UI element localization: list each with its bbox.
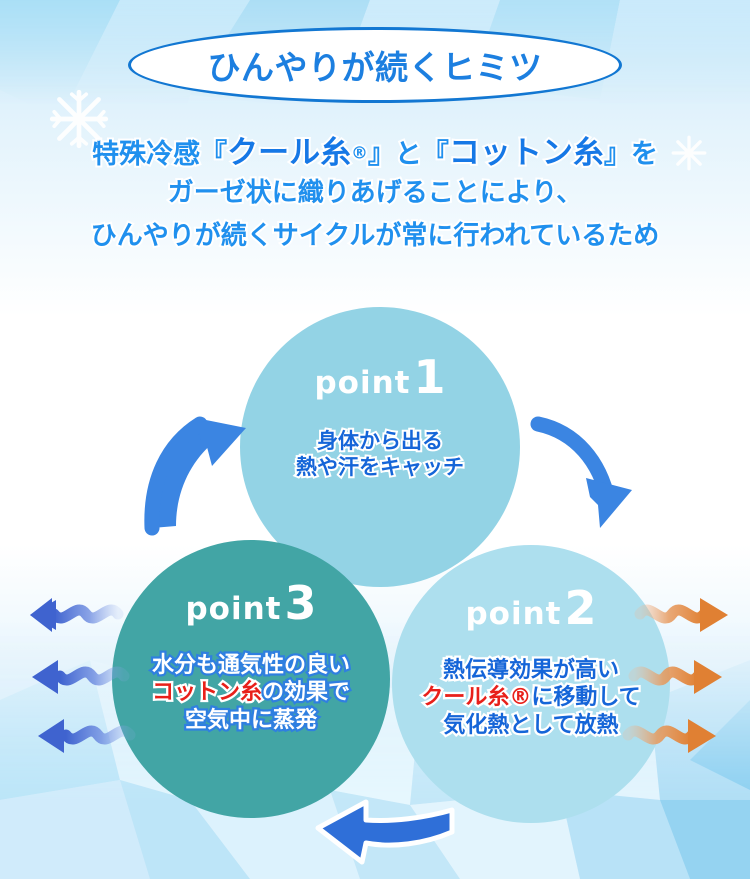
point-3-line-1: 水分も通気性の良い bbox=[152, 652, 350, 679]
point-1-body: 身体から出る 熱や汗をキャッチ bbox=[296, 428, 464, 480]
point-1-line-2: 熱や汗をキャッチ bbox=[296, 454, 464, 480]
point-3-line-2-red: コットン糸 bbox=[152, 680, 262, 705]
registered-mark: ® bbox=[351, 142, 368, 162]
point-2-word: point bbox=[465, 599, 561, 630]
lead-line-2: ガーゼ状に織りあげることにより、 bbox=[0, 176, 750, 210]
page-title: ひんやりが続くヒミツ bbox=[128, 27, 622, 103]
lead-line-3: ひんやりが続くサイクルが常に行われているため bbox=[0, 219, 750, 253]
snowflake-icon bbox=[46, 86, 112, 152]
lead-1-cotton: コットン糸 bbox=[449, 135, 604, 171]
point-3-circle[interactable]: point 3 水分も通気性の良い コットン糸の効果で 空気中に蒸発 bbox=[112, 540, 390, 818]
lead-1-cool: クール糸 bbox=[227, 135, 351, 171]
point-2-line-2-red: クール糸® bbox=[421, 685, 531, 710]
point-2-line-3: 気化熱として放熱 bbox=[421, 712, 640, 739]
point-2-line-2-blue: に移動して bbox=[531, 685, 640, 710]
infographic-root: ひんやりが続くヒミツ 特殊冷感『クール糸®』と『コットン糸』を ガーゼ状に織りあ… bbox=[0, 0, 750, 879]
lead-line-1: 特殊冷感『クール糸®』と『コットン糸』を bbox=[0, 133, 750, 174]
point-3-line-2: コットン糸の効果で bbox=[152, 679, 350, 706]
snowflake-icon-small bbox=[668, 132, 710, 174]
lead-1-c: 』と『 bbox=[368, 139, 449, 170]
point-2-line-2: クール糸®に移動して bbox=[421, 684, 640, 711]
point-3-label: point 3 bbox=[185, 580, 316, 626]
point-2-line-1: 熱伝導効果が高い bbox=[421, 657, 640, 684]
point-2-label: point 2 bbox=[465, 585, 596, 631]
point-1-number: 1 bbox=[414, 354, 446, 400]
point-2-number: 2 bbox=[565, 585, 597, 631]
point-1-word: point bbox=[314, 368, 410, 399]
point-3-line-2-white: の効果で bbox=[262, 680, 350, 705]
point-3-word: point bbox=[185, 594, 281, 625]
point-2-circle[interactable]: point 2 熱伝導効果が高い クール糸®に移動して 気化熱として放熱 bbox=[392, 545, 670, 823]
point-1-label: point 1 bbox=[314, 354, 445, 400]
point-2-body: 熱伝導効果が高い クール糸®に移動して 気化熱として放熱 bbox=[421, 657, 640, 739]
lead-1-e: 』を bbox=[604, 139, 658, 170]
title-badge: ひんやりが続くヒミツ bbox=[128, 27, 622, 103]
point-3-line-3: 空気中に蒸発 bbox=[152, 707, 350, 734]
point-1-line-1: 身体から出る bbox=[296, 428, 464, 454]
point-3-number: 3 bbox=[285, 580, 317, 626]
lead-paragraph: 特殊冷感『クール糸®』と『コットン糸』を ガーゼ状に織りあげることにより、 ひん… bbox=[0, 133, 750, 254]
lead-1-a: 特殊冷感『 bbox=[92, 139, 227, 170]
point-3-body: 水分も通気性の良い コットン糸の効果で 空気中に蒸発 bbox=[152, 652, 350, 734]
